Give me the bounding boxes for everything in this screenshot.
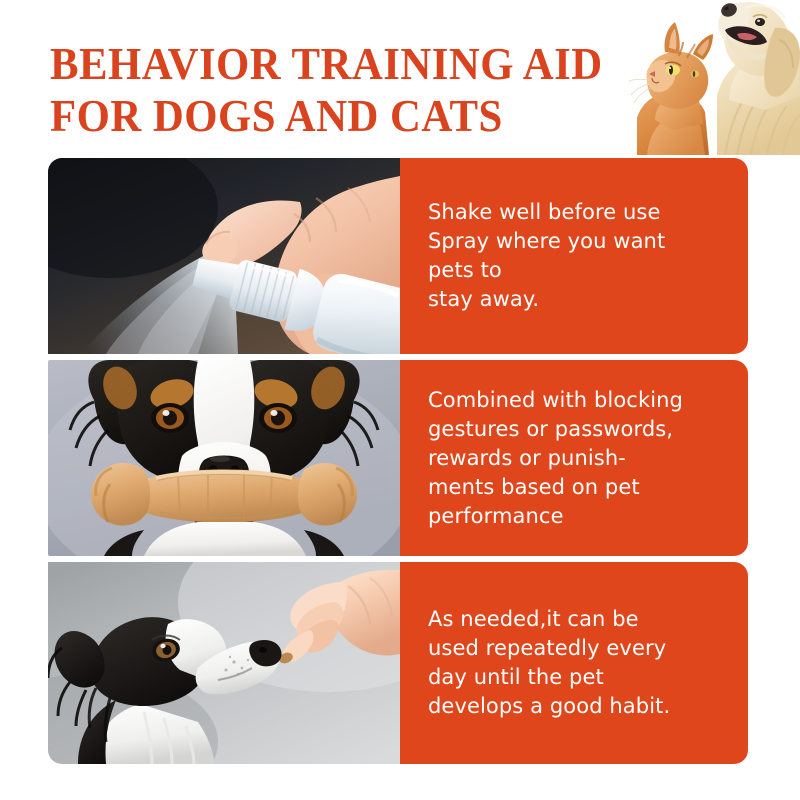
spray-bottle-photo-illustration — [48, 158, 400, 354]
dog-eye-left — [151, 403, 189, 433]
step-2-text: Combined with blocking gestures or passw… — [428, 386, 683, 531]
step-row-2: Combined with blocking gestures or passw… — [48, 360, 748, 556]
step-3-photo — [48, 562, 400, 764]
step-3-copy-panel: As needed,it can be used repeatedly ever… — [400, 562, 748, 764]
dog-eye-right — [259, 403, 297, 433]
step-2-photo — [48, 360, 400, 556]
step-2-copy-panel: Combined with blocking gestures or passw… — [400, 360, 748, 556]
step-row-3: As needed,it can be used repeatedly ever… — [48, 562, 748, 764]
step-1-photo — [48, 158, 400, 354]
golden-retriever-and-cat-icon — [625, 0, 800, 155]
pets-artwork — [625, 0, 800, 155]
infographic-page: BEHAVIOR TRAINING AID FOR DOGS AND CATS — [0, 0, 800, 800]
page-title: BEHAVIOR TRAINING AID FOR DOGS AND CATS — [50, 38, 608, 142]
header: BEHAVIOR TRAINING AID FOR DOGS AND CATS — [0, 0, 800, 158]
dog-with-bone-photo-illustration — [48, 360, 400, 556]
step-1-text: Shake well before use Spray where you wa… — [428, 198, 665, 314]
step-1-copy-panel: Shake well before use Spray where you wa… — [400, 158, 748, 354]
steps-list: Shake well before use Spray where you wa… — [48, 158, 748, 764]
rawhide-bone — [91, 463, 357, 526]
dog-looking-at-hand-photo-illustration — [48, 562, 400, 764]
step-row-1: Shake well before use Spray where you wa… — [48, 158, 748, 354]
step-3-text: As needed,it can be used repeatedly ever… — [428, 605, 670, 721]
